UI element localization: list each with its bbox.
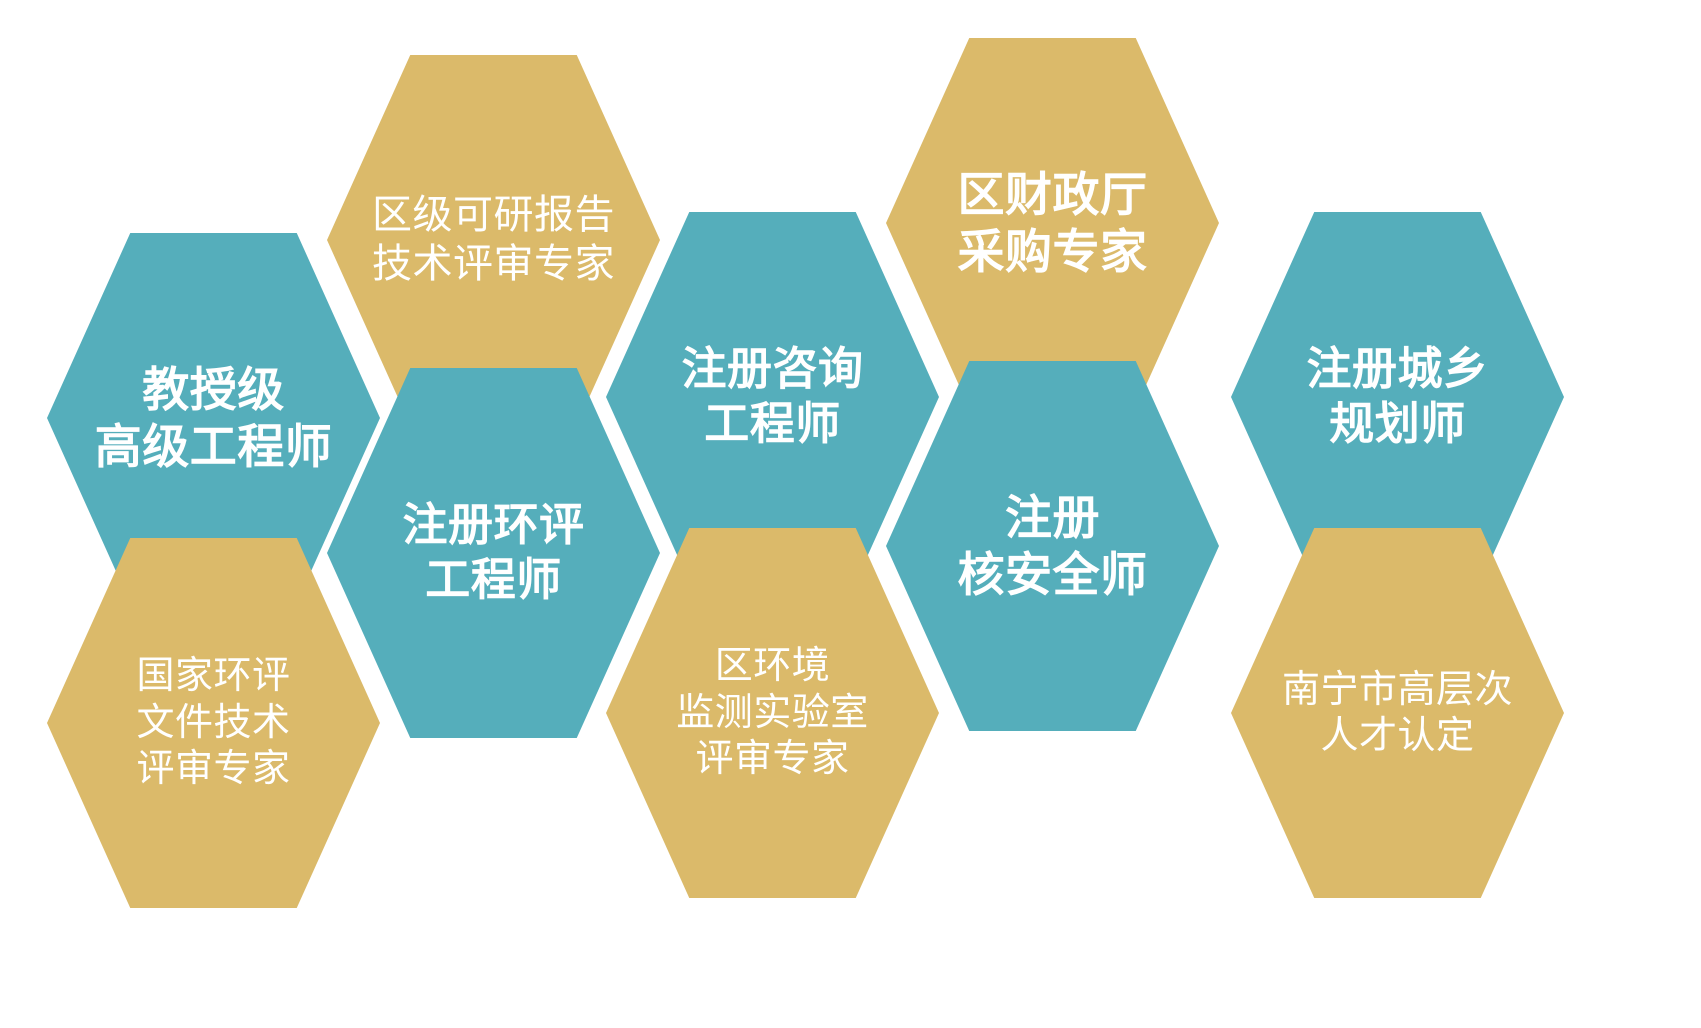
hex-label: 注册 核安全师 <box>952 489 1154 604</box>
hex-nanning-high-level-talent-certification[interactable]: 南宁市高层次 人才认定 <box>1231 528 1564 898</box>
hex-label: 南宁市高层次 人才认定 <box>1276 667 1519 760</box>
hex-label: 区环境 监测实验室 评审专家 <box>670 643 875 782</box>
hex-district-environmental-monitoring-lab-review-expert[interactable]: 区环境 监测实验室 评审专家 <box>606 528 939 898</box>
hex-label: 注册咨询 工程师 <box>675 342 869 452</box>
hex-label: 区级可研报告 技术评审专家 <box>366 191 621 289</box>
hex-label: 教授级 高级工程师 <box>89 361 339 476</box>
hex-label: 注册环评 工程师 <box>396 498 590 608</box>
hex-national-eia-document-technical-review-expert[interactable]: 国家环评 文件技术 评审专家 <box>47 538 380 908</box>
hex-registered-urban-rural-planner[interactable]: 注册城乡 规划师 <box>1231 212 1564 582</box>
hex-district-finance-department-procurement-expert[interactable]: 区财政厅 采购专家 <box>886 38 1219 408</box>
hex-label: 国家环评 文件技术 评审专家 <box>130 653 296 792</box>
hex-label: 区财政厅 采购专家 <box>952 166 1154 281</box>
hex-label: 注册城乡 规划师 <box>1300 342 1494 452</box>
hex-registered-consulting-engineer[interactable]: 注册咨询 工程师 <box>606 212 939 582</box>
hex-registered-nuclear-safety-engineer[interactable]: 注册 核安全师 <box>886 361 1219 731</box>
honeycomb-diagram: 教授级 高级工程师 国家环评 文件技术 评审专家 区级可研报告 技术评审专家 注… <box>0 0 1701 1028</box>
